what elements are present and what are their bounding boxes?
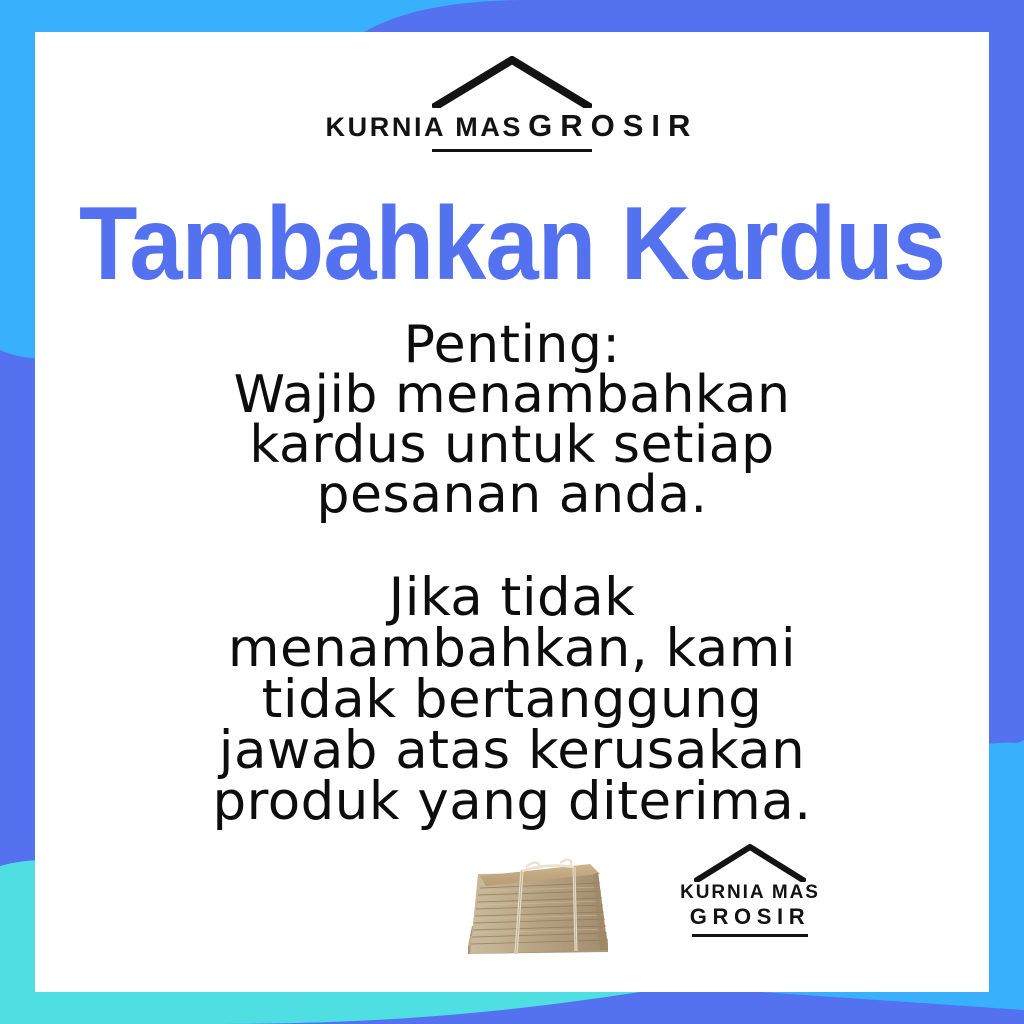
content-card: KURNIA MAS GROSIR Tambahkan Kardus Penti… [35,32,989,992]
house-roof-icon [694,844,806,882]
cardboard-bundle-image [450,850,620,970]
body-copy: Penting: Wajib menambahkan kardus untuk … [75,320,949,827]
paragraph2-line-5: produk yang diterima. [75,776,949,827]
brand-underline [432,149,592,152]
brand-logo-top: KURNIA MAS GROSIR [35,56,989,152]
page-title: Tambahkan Kardus [73,192,951,296]
poster-canvas: KURNIA MAS GROSIR Tambahkan Kardus Penti… [0,0,1024,1024]
paragraph2-line-3: tidak bertanggung [75,674,949,725]
paragraph1-line-4: pesanan anda. [75,470,949,520]
paragraph2-line-2: menambahkan, kami [75,623,949,674]
paragraph2-line-1: Jika tidak [75,572,949,623]
brand-line2: GROSIR [690,904,810,929]
brand-line2: GROSIR [528,108,698,143]
paragraph1-line-1: Penting: [75,320,949,370]
paragraph-disclaimer: Jika tidak menambahkan, kami tidak berta… [75,572,949,827]
paragraph-spacer [75,520,949,572]
brand-logo-bottom: KURNIA MAS GROSIR [639,844,861,937]
house-roof-icon [432,56,592,108]
paragraph1-line-2: Wajib menambahkan [75,370,949,420]
brand-line1: KURNIA MAS [326,112,524,142]
paragraph2-line-4: jawab atas kerusakan [75,725,949,776]
paragraph1-line-3: kardus untuk setiap [75,420,949,470]
paragraph-important: Penting: Wajib menambahkan kardus untuk … [75,320,949,520]
brand-underline [692,934,808,937]
brand-line1: KURNIA MAS [680,882,820,903]
